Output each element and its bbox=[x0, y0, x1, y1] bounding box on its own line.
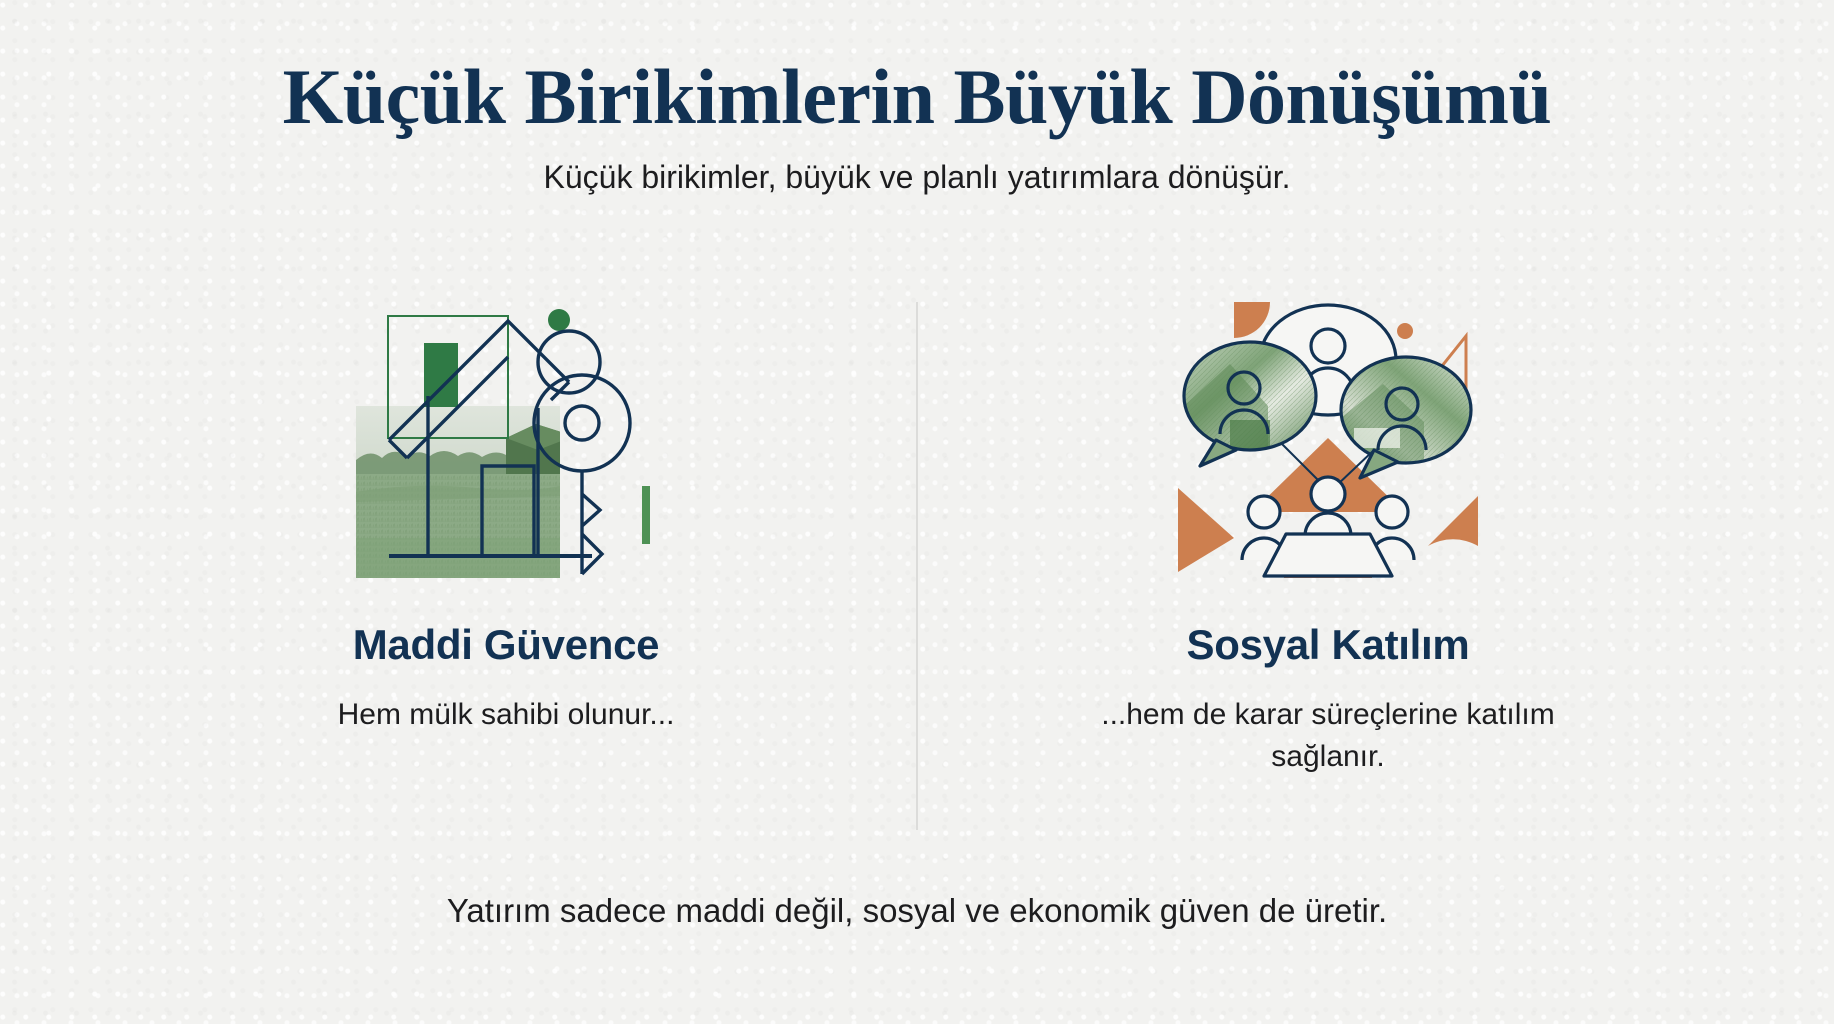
card-caption-maddi-guvence: Hem mülk sahibi olunur... bbox=[338, 694, 675, 735]
page-subtitle: Küçük birikimler, büyük ve planlı yatırı… bbox=[0, 157, 1834, 197]
green-dot bbox=[548, 309, 570, 331]
content-columns: Maddi Güvence Hem mülk sahibi olunur... bbox=[0, 288, 1834, 830]
card-title-sosyal-katilim: Sosyal Katılım bbox=[1187, 622, 1470, 668]
footer-text: Yatırım sadece maddi değil, sosyal ve ek… bbox=[0, 890, 1834, 933]
column-maddi-guvence: Maddi Güvence Hem mülk sahibi olunur... bbox=[186, 288, 826, 736]
meeting-table-group bbox=[1242, 477, 1414, 576]
green-vertical-bar bbox=[642, 486, 650, 544]
card-caption-sosyal-katilim: ...hem de karar süreçlerine katılım sağl… bbox=[1093, 694, 1563, 777]
column-sosyal-katilim: Sosyal Katılım ...hem de karar süreçleri… bbox=[1008, 288, 1648, 777]
slide-canvas: Küçük Birikimlerin Büyük Dönüşümü Küçük … bbox=[0, 0, 1834, 1024]
slide-footer: Yatırım sadece maddi değil, sosyal ve ek… bbox=[0, 890, 1834, 933]
speech-bubbles-meeting-illustration bbox=[1178, 288, 1478, 578]
slide-header: Küçük Birikimlerin Büyük Dönüşümü Küçük … bbox=[0, 56, 1834, 197]
speech-bubble-right bbox=[1341, 357, 1471, 478]
page-title: Küçük Birikimlerin Büyük Dönüşümü bbox=[0, 56, 1834, 139]
column-divider bbox=[916, 302, 918, 830]
speech-bubble-left bbox=[1184, 342, 1316, 466]
card-title-maddi-guvence: Maddi Güvence bbox=[353, 622, 660, 668]
house-key-field-illustration bbox=[356, 288, 656, 578]
